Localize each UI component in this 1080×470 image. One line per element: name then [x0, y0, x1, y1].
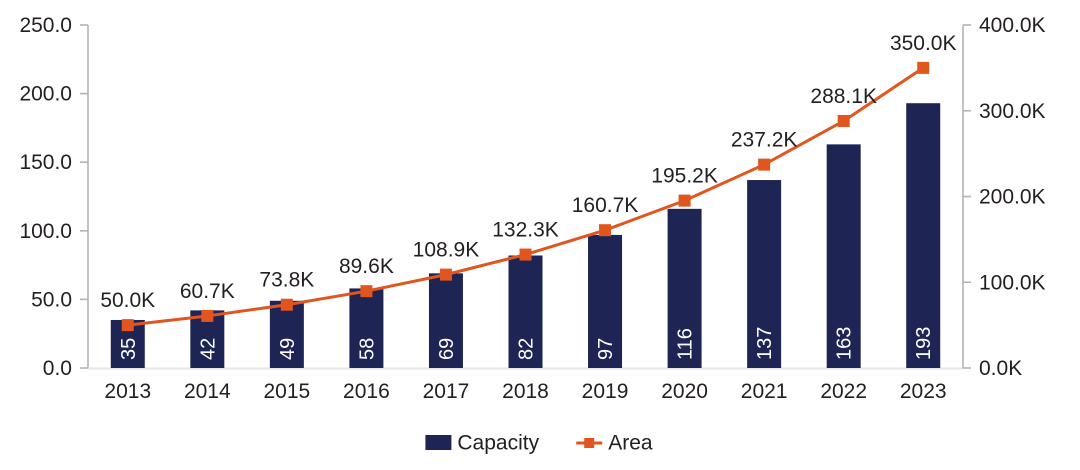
- combo-chart: 0.050.0100.0150.0200.0250.0 0.0K100.0K20…: [0, 0, 1080, 470]
- x-axis-category-label: 2023: [900, 380, 947, 403]
- bar-value-label: 35: [118, 338, 140, 360]
- left-axis-tick-label: 50.0: [31, 288, 72, 311]
- line-point-label: 195.2K: [651, 165, 718, 188]
- right-axis: 0.0K100.0K200.0K300.0K400.0K: [963, 14, 1046, 380]
- right-axis-ticks: [963, 25, 971, 368]
- line-point-label: 60.7K: [180, 280, 235, 303]
- bar-value-label: 193: [913, 327, 935, 360]
- legend-label: Area: [608, 432, 653, 455]
- bar-value-label: 69: [436, 338, 458, 360]
- right-axis-tick-label: 0.0K: [979, 357, 1022, 380]
- x-axis-category-label: 2020: [661, 380, 708, 403]
- left-axis-tick-labels: 0.050.0100.0150.0200.0250.0: [19, 14, 72, 380]
- x-axis-category-label: 2019: [582, 380, 629, 403]
- x-axis-category-label: 2015: [264, 380, 311, 403]
- line-point-label: 89.6K: [339, 255, 394, 278]
- x-axis-category-label: 2013: [104, 380, 151, 403]
- left-axis-tick-label: 250.0: [19, 14, 72, 37]
- bar-value-label: 49: [277, 338, 299, 360]
- line-marker: [679, 195, 691, 207]
- x-axis-category-label: 2022: [820, 380, 867, 403]
- x-axis-category-label: 2016: [343, 380, 390, 403]
- line-point-label: 350.0K: [890, 32, 957, 55]
- bar-value-label: 58: [356, 338, 378, 360]
- left-axis-tick-label: 0.0: [43, 357, 72, 380]
- bar-value-label: 137: [754, 327, 776, 360]
- line-marker: [201, 310, 213, 322]
- x-axis-category-labels: 2013201420152016201720182019202020212022…: [104, 380, 946, 403]
- x-axis-category-label: 2018: [502, 380, 549, 403]
- line-marker: [281, 299, 293, 311]
- left-axis-tick-label: 150.0: [19, 151, 72, 174]
- right-axis-tick-label: 200.0K: [979, 186, 1046, 209]
- bar-value-label: 97: [595, 338, 617, 360]
- right-axis-tick-label: 400.0K: [979, 14, 1046, 37]
- line-point-label: 132.3K: [492, 219, 559, 242]
- left-axis-ticks: [80, 25, 88, 368]
- line-marker: [758, 159, 770, 171]
- legend-swatch-icon: [425, 435, 451, 450]
- line-marker: [360, 285, 372, 297]
- x-axis-category-label: 2021: [741, 380, 788, 403]
- chart-container: 0.050.0100.0150.0200.0250.0 0.0K100.0K20…: [0, 0, 1080, 470]
- legend-marker-icon: [584, 438, 594, 448]
- legend-item[interactable]: Capacity: [425, 432, 539, 455]
- right-axis-tick-label: 100.0K: [979, 271, 1046, 294]
- chart-legend: CapacityArea: [425, 432, 652, 455]
- line-point-label: 73.8K: [259, 269, 314, 292]
- legend-item[interactable]: Area: [576, 432, 653, 455]
- legend-label: Capacity: [457, 432, 539, 455]
- bar-value-label: 82: [516, 338, 538, 360]
- bar-value-label: 116: [675, 328, 697, 360]
- right-axis-tick-label: 300.0K: [979, 100, 1046, 123]
- left-axis: 0.050.0100.0150.0200.0250.0: [19, 14, 88, 380]
- line-point-label: 288.1K: [810, 85, 877, 108]
- bar-value-label: 163: [834, 327, 856, 360]
- line-marker: [838, 115, 850, 127]
- line-marker: [917, 62, 929, 74]
- bar-value-label: 42: [197, 338, 219, 360]
- line-point-label: 50.0K: [100, 289, 155, 312]
- right-axis-tick-labels: 0.0K100.0K200.0K300.0K400.0K: [979, 14, 1046, 380]
- left-axis-tick-label: 200.0: [19, 83, 72, 106]
- x-axis-category-label: 2017: [423, 380, 470, 403]
- line-point-label: 160.7K: [572, 194, 639, 217]
- line-marker: [122, 319, 134, 331]
- line-marker: [599, 224, 611, 236]
- line-point-label: 108.9K: [413, 239, 480, 262]
- line-point-label: 237.2K: [731, 129, 798, 152]
- line-marker: [440, 269, 452, 281]
- left-axis-tick-label: 100.0: [19, 220, 72, 243]
- line-marker: [520, 249, 532, 261]
- x-axis-category-label: 2014: [184, 380, 231, 403]
